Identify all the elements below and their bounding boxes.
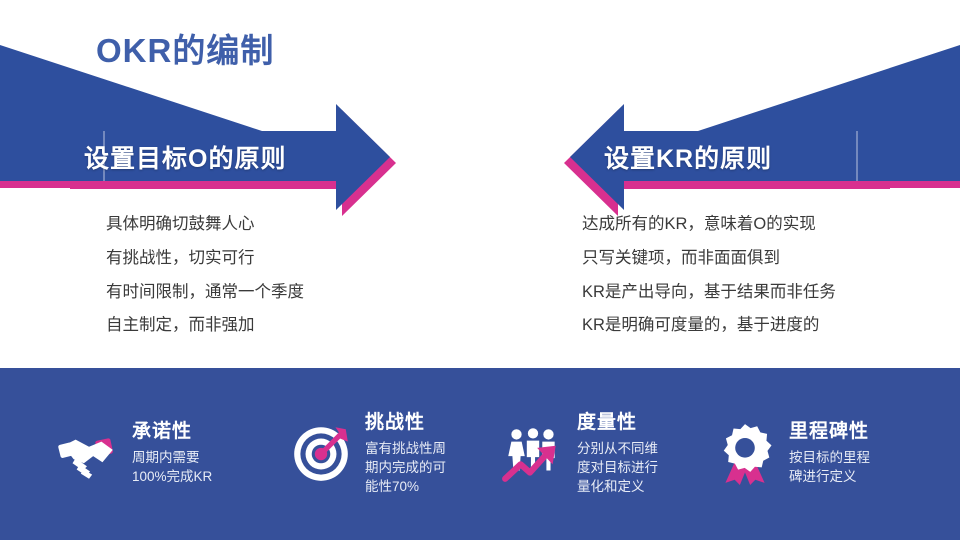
list-item: KR是产出导向，基于结果而非任务 — [582, 280, 836, 305]
people-growth-chart-icon — [500, 421, 566, 487]
target-dart-icon — [288, 421, 354, 487]
footer-item-text: 挑战性 富有挑战性周 期内完成的可 能性70% — [365, 412, 446, 496]
footer-item-desc-line: 按目标的里程 — [789, 448, 870, 467]
footer-item-measurability: 度量性 分别从不同维 度对目标进行 量化和定义 — [500, 368, 658, 540]
list-item: 有挑战性，切实可行 — [106, 246, 304, 271]
footer-item-text: 承诺性 周期内需要 100%完成KR — [132, 421, 212, 486]
footer-item-desc-line: 分别从不同维 — [577, 439, 658, 458]
footer-item-title: 承诺性 — [132, 421, 212, 444]
handshake-icon — [55, 421, 121, 487]
footer-item-text: 里程碑性 按目标的里程 碑进行定义 — [789, 421, 870, 486]
principles-kr-list: 达成所有的KR，意味着O的实现 只写关键项，而非面面俱到 KR是产出导向，基于结… — [582, 212, 836, 347]
slide-canvas: OKR的编制 设置目标O的原则 设置KR的原则 具体明确切鼓舞人心 有挑战性，切… — [0, 0, 960, 540]
footer-item-desc-line: 能性70% — [365, 477, 446, 496]
footer-item-title: 里程碑性 — [789, 421, 870, 444]
page-title: OKR的编制 — [96, 33, 274, 69]
footer-item-desc-line: 富有挑战性周 — [365, 439, 446, 458]
award-ribbon-icon — [712, 421, 778, 487]
list-item: 达成所有的KR，意味着O的实现 — [582, 212, 836, 237]
footer-item-title: 挑战性 — [365, 412, 446, 435]
footer-item-commitment: 承诺性 周期内需要 100%完成KR — [55, 368, 212, 540]
footer-item-title: 度量性 — [577, 412, 658, 435]
footer-band: 承诺性 周期内需要 100%完成KR 挑战性 富有挑战性周 期内 — [0, 368, 960, 540]
banner-objective-label: 设置目标O的原则 — [84, 139, 286, 175]
principles-objective-list: 具体明确切鼓舞人心 有挑战性，切实可行 有时间限制，通常一个季度 自主制定，而非… — [106, 212, 304, 347]
list-item: KR是明确可度量的，基于进度的 — [582, 313, 836, 338]
footer-item-milestone: 里程碑性 按目标的里程 碑进行定义 — [712, 368, 870, 540]
list-item: 有时间限制，通常一个季度 — [106, 280, 304, 305]
footer-item-desc-line: 100%完成KR — [132, 467, 212, 486]
footer-item-text: 度量性 分别从不同维 度对目标进行 量化和定义 — [577, 412, 658, 496]
footer-item-desc-line: 周期内需要 — [132, 448, 212, 467]
footer-item-desc-line: 碑进行定义 — [789, 467, 870, 486]
footer-item-desc-line: 期内完成的可 — [365, 458, 446, 477]
footer-item-desc-line: 量化和定义 — [577, 477, 658, 496]
list-item: 只写关键项，而非面面俱到 — [582, 246, 836, 271]
banner-kr-label: 设置KR的原则 — [604, 139, 772, 175]
footer-item-challenge: 挑战性 富有挑战性周 期内完成的可 能性70% — [288, 368, 446, 540]
list-item: 具体明确切鼓舞人心 — [106, 212, 304, 237]
list-item: 自主制定，而非强加 — [106, 313, 304, 338]
footer-item-desc-line: 度对目标进行 — [577, 458, 658, 477]
